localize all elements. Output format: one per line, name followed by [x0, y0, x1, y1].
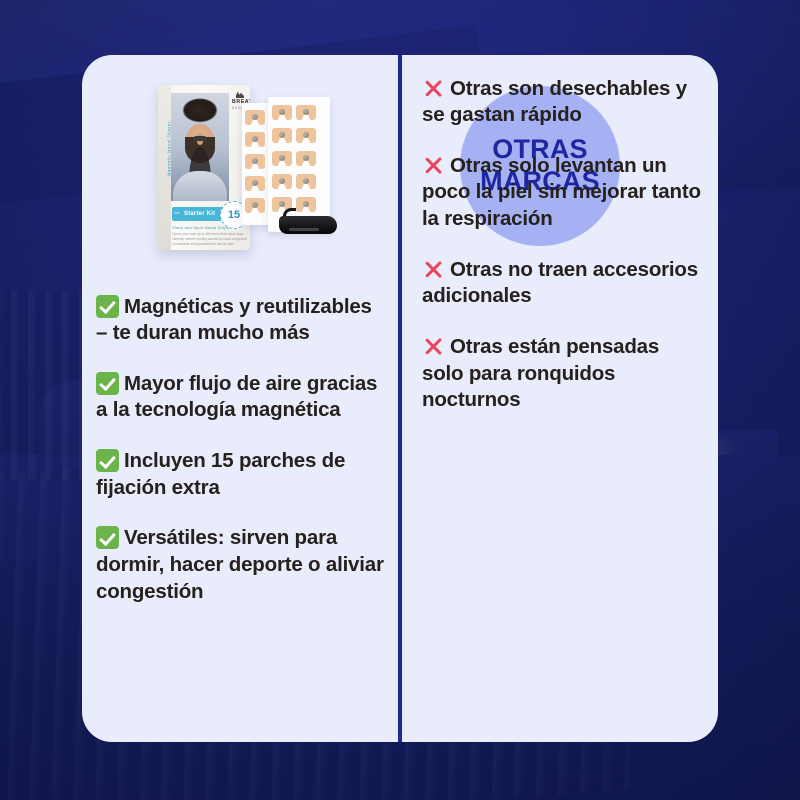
comparison-card: Magnetic Nasal Dilator BREATHE BUDDY: [82, 55, 718, 742]
column-our-brand: Magnetic Nasal Dilator BREATHE BUDDY: [82, 55, 398, 742]
check-icon: [96, 295, 119, 318]
drawback-item-label: Otras están pensadas solo para ronquidos…: [422, 335, 659, 411]
benefit-item-label: Versátiles: sirven para dormir, hacer de…: [96, 526, 384, 602]
drawback-item-label: Otras solo levantan un poco la piel sin …: [422, 154, 701, 230]
benefit-item: Mayor flujo de aire gracias a la tecnolo…: [96, 371, 384, 424]
comparison-infographic: Magnetic Nasal Dilator BREATHE BUDDY: [0, 0, 800, 800]
drawback-item-label: Otras son desechables y se gastan rápido: [422, 77, 687, 127]
benefit-item: Versátiles: sirven para dormir, hacer de…: [96, 525, 384, 605]
check-icon: [96, 372, 119, 395]
drawbacks-list: Otras son desechables y se gastan rápido…: [402, 55, 718, 438]
benefit-item: Incluyen 15 parches de fijación extra: [96, 448, 384, 501]
cross-icon: [422, 154, 445, 177]
benefit-item-label: Mayor flujo de aire gracias a la tecnolo…: [96, 372, 377, 422]
cross-icon: [422, 258, 445, 281]
check-icon: [96, 526, 119, 549]
benefits-list: Magnéticas y reutilizables – te duran mu…: [82, 55, 398, 629]
drawback-item: Otras solo levantan un poco la piel sin …: [422, 153, 702, 233]
drawback-item: Otras están pensadas solo para ronquidos…: [422, 334, 702, 414]
drawback-item: Otras no traen accesorios adicionales: [422, 257, 702, 310]
check-icon: [96, 449, 119, 472]
drawback-item-label: Otras no traen accesorios adicionales: [422, 258, 698, 308]
benefit-item-label: Magnéticas y reutilizables – te duran mu…: [96, 295, 372, 345]
cross-icon: [422, 335, 445, 358]
cross-icon: [422, 77, 445, 100]
benefit-item: Magnéticas y reutilizables – te duran mu…: [96, 294, 384, 347]
benefit-item-label: Incluyen 15 parches de fijación extra: [96, 449, 345, 499]
drawback-item: Otras son desechables y se gastan rápido: [422, 76, 702, 129]
column-other-brands: OTRAS MARCAS Otras son desechables y se …: [402, 55, 718, 742]
